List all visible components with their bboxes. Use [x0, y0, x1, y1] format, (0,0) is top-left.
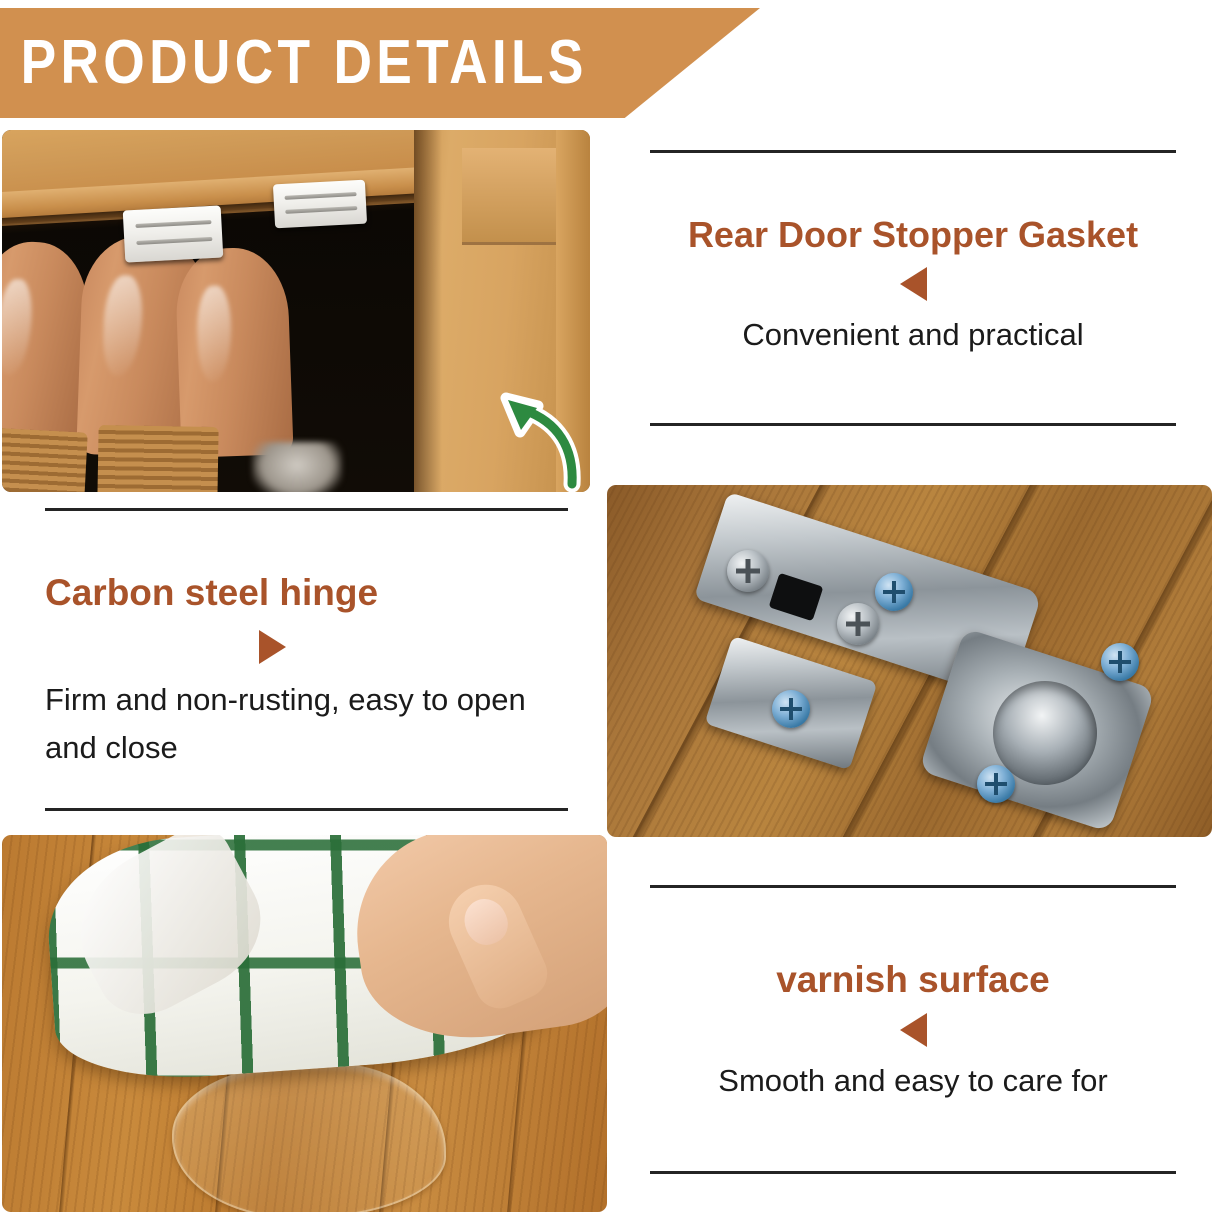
- feature-title: Rear Door Stopper Gasket: [650, 215, 1176, 255]
- divider-top: [650, 885, 1176, 888]
- door-stopper-gasket: [273, 180, 367, 229]
- triangle-left-icon: [900, 267, 927, 301]
- feature-description: Firm and non-rusting, easy to open and c…: [45, 676, 568, 772]
- screw-icon: [977, 765, 1015, 803]
- screw-icon: [1101, 643, 1139, 681]
- photo-rear-door-stopper-gasket: [2, 130, 590, 492]
- fur-texture: [252, 442, 342, 492]
- screw-icon: [727, 550, 769, 592]
- feature-title: Carbon steel hinge: [45, 573, 568, 614]
- triangle-left-icon: [900, 1013, 927, 1047]
- divider-top: [45, 508, 568, 511]
- feature-block-carbon-steel-hinge: Carbon steel hinge Firm and non-rusting,…: [45, 508, 568, 811]
- thumb: [437, 873, 555, 1016]
- door-stopper-gasket: [123, 205, 224, 262]
- feature-description: Smooth and easy to care for: [650, 1057, 1176, 1105]
- green-curved-arrow-icon: [494, 388, 586, 492]
- photo-varnish-surface: [2, 835, 607, 1212]
- water-spill: [172, 1063, 446, 1212]
- cloth-fold: [53, 835, 282, 1032]
- feature-block-rear-door-stopper-gasket: Rear Door Stopper Gasket Convenient and …: [650, 150, 1176, 426]
- triangle-right-icon: [259, 630, 286, 664]
- divider-bottom: [45, 808, 568, 811]
- boot-sole: [2, 427, 88, 492]
- screw-icon: [837, 603, 879, 645]
- feature-block-varnish-surface: varnish surface Smooth and easy to care …: [650, 885, 1176, 1174]
- photo-carbon-steel-hinge: [607, 485, 1212, 837]
- screw-icon: [772, 690, 810, 728]
- feature-description: Convenient and practical: [650, 311, 1176, 359]
- page-title: PRODUCT DETAILS: [0, 32, 588, 94]
- product-details-banner: PRODUCT DETAILS: [0, 8, 760, 118]
- divider-top: [650, 150, 1176, 153]
- feature-title: varnish surface: [650, 960, 1176, 1001]
- divider-bottom: [650, 423, 1176, 426]
- screw-icon: [875, 573, 913, 611]
- divider-bottom: [650, 1171, 1176, 1174]
- boot-sole: [97, 425, 218, 492]
